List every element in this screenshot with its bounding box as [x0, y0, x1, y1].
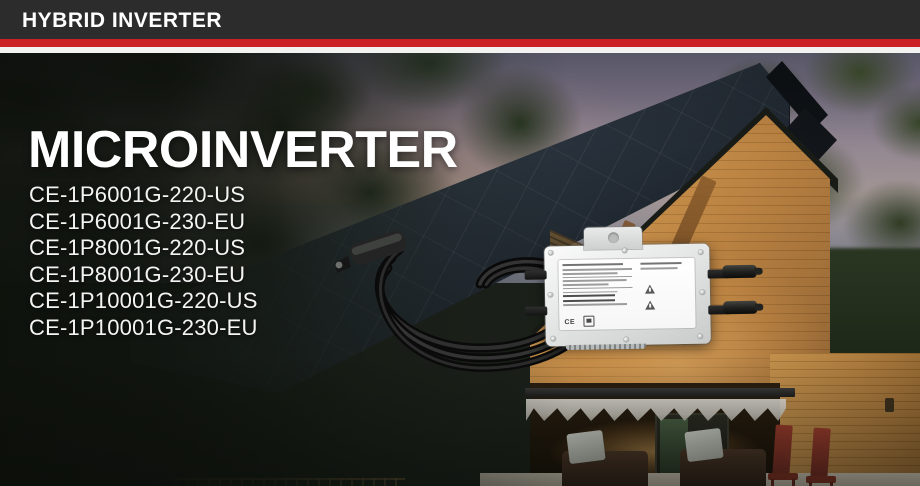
screw-icon — [698, 334, 703, 339]
ce-mark: CE — [564, 319, 575, 326]
spec-bold-line — [563, 294, 637, 297]
product-composite: CE — [330, 180, 890, 380]
list-item: CE-1P8001G-220-US — [29, 235, 258, 262]
screw-icon — [700, 290, 705, 295]
screw-icon — [548, 292, 553, 297]
spec-line — [563, 268, 637, 271]
mc4-connector-top — [722, 265, 756, 279]
white-accent-rule — [0, 47, 920, 53]
spec-line — [563, 287, 637, 290]
weee-bin-icon — [583, 316, 594, 327]
spec-line — [563, 290, 637, 293]
list-item: CE-1P6001G-230-EU — [29, 209, 258, 236]
cable-connector-icon — [335, 229, 408, 273]
mounting-bracket — [584, 227, 642, 250]
dc-input-port — [525, 306, 547, 315]
spec-line — [641, 267, 691, 269]
header-bar: HYBRID INVERTER — [0, 0, 920, 39]
screw-icon — [698, 250, 703, 255]
screw-icon — [551, 336, 556, 341]
list-item: CE-1P10001G-220-US — [29, 288, 258, 315]
list-item: CE-1P10001G-230-EU — [29, 315, 258, 342]
red-accent-rule — [0, 39, 920, 47]
list-item: CE-1P6001G-220-US — [29, 182, 258, 209]
model-number-list: CE-1P6001G-220-US CE-1P6001G-230-EU CE-1… — [29, 182, 258, 342]
screw-icon — [624, 337, 629, 342]
spec-line — [563, 272, 637, 275]
header-title: HYBRID INVERTER — [22, 9, 222, 33]
warning-triangle-icon — [645, 285, 655, 294]
spec-left-column — [562, 263, 637, 308]
screw-icon — [622, 248, 627, 253]
spec-line — [563, 279, 637, 282]
dc-input-port — [525, 270, 547, 279]
screw-icon — [548, 250, 553, 255]
spec-heading-line — [562, 263, 636, 267]
product-spec-label: CE — [558, 258, 695, 330]
spec-bold-line — [563, 299, 637, 302]
warning-triangle-icon — [645, 301, 655, 310]
spec-heading-line — [640, 262, 690, 265]
spec-right-column — [640, 262, 690, 272]
microinverter-banner: HYBRID INVERTER — [0, 0, 920, 486]
spec-line — [563, 276, 637, 279]
microinverter-device: CE — [544, 244, 711, 347]
mc4-connector-bottom — [723, 301, 757, 315]
page-title: MICROINVERTER — [28, 124, 458, 176]
list-item: CE-1P8001G-230-EU — [29, 262, 258, 289]
spec-line — [563, 283, 637, 286]
spec-line — [563, 303, 637, 306]
